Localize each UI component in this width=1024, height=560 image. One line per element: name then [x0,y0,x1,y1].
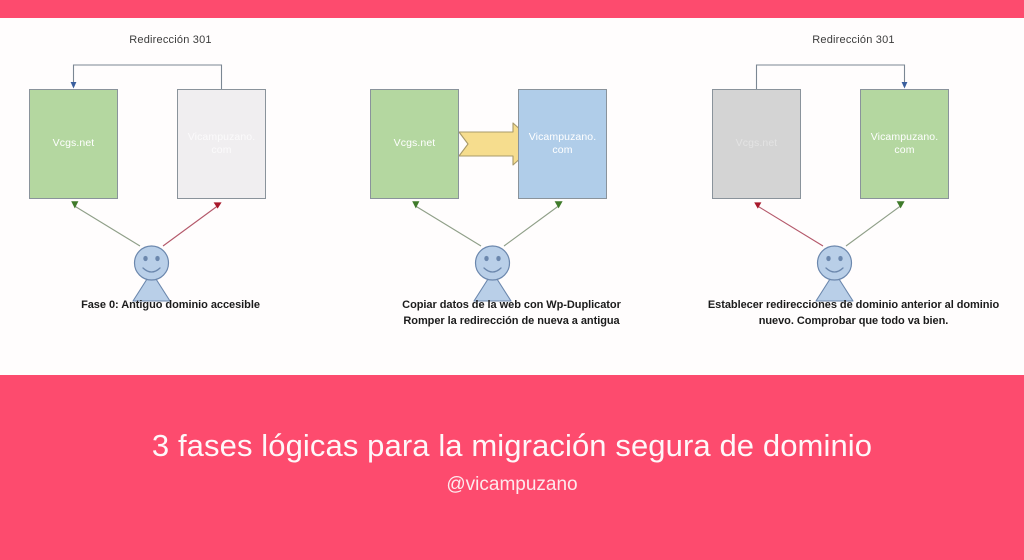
user-to-right-arrow-1 [504,201,563,246]
domain-box-new-1: Vicampuzano.com [518,89,607,199]
user-to-right-arrow-2 [846,201,905,246]
domain-box-old-label-0: Vcgs.net [38,137,110,150]
banner-title: 3 fases lógicas para la migración segura… [152,427,872,464]
bottom-banner: 3 fases lógicas para la migración segura… [0,375,1024,560]
user-to-left-arrow-2 [754,202,823,246]
phase-caption-1: Copiar datos de la web con Wp-Duplicator… [353,298,670,329]
diagram-canvas: Redirección 301 [0,18,1024,375]
user-figure-0 [133,246,170,301]
domain-box-new-label-1: Vicampuzano.com [527,131,599,157]
redirect-elbow-2 [757,65,908,90]
phase-panel-1: Vcgs.net Vicampuzano.com Copiar datos de… [341,18,682,375]
phase-caption-2: Establecer redirecciones de dominio ante… [695,298,1012,329]
user-to-right-arrow-0 [163,202,222,246]
domain-box-old-2: Vcgs.net [712,89,801,199]
user-figure-2 [816,246,853,301]
user-to-left-arrow-1 [412,201,481,246]
domain-box-new-0: Vicampuzano.com [177,89,266,199]
phase-caption-0: Fase 0: Antiguo dominio accesible [12,298,329,314]
phase-panel-2: Redirección 301 [683,18,1024,375]
user-figure-1 [474,246,511,301]
domain-box-old-label-1: Vcgs.net [379,137,451,150]
user-to-left-arrow-0 [71,201,140,246]
redirect-elbow-0 [71,65,222,90]
domain-box-new-label-0: Vicampuzano.com [186,131,258,157]
domain-box-new-label-2: Vicampuzano.com [869,131,941,157]
top-accent-bar [0,0,1024,18]
infographic-root: Redirección 301 [0,0,1024,560]
domain-box-old-label-2: Vcgs.net [721,137,793,150]
domain-box-new-2: Vicampuzano.com [860,89,949,199]
domain-box-old-0: Vcgs.net [29,89,118,199]
banner-handle: @vicampuzano [446,474,577,496]
domain-box-old-1: Vcgs.net [370,89,459,199]
phase-panel-0: Redirección 301 [0,18,341,375]
